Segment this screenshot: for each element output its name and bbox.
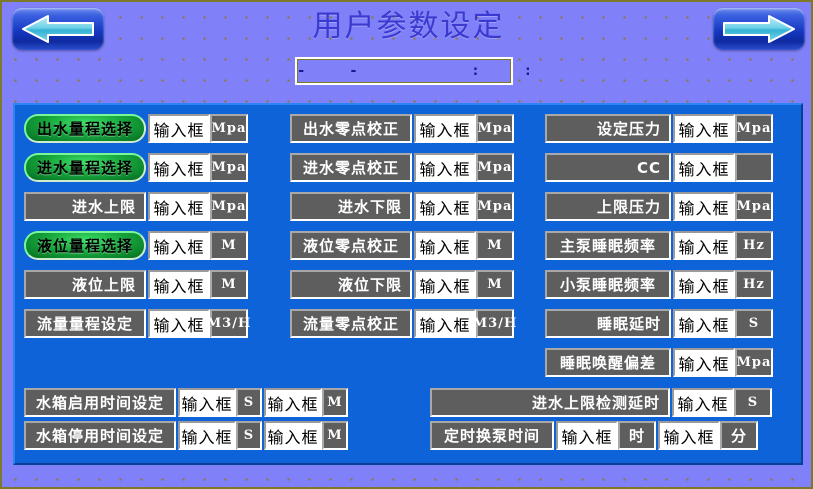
field-input-field[interactable]: 输入框	[148, 153, 210, 182]
parameter-row: 液位上限输入框M	[24, 270, 248, 299]
field-input-field[interactable]: 输入框	[673, 309, 735, 338]
datetime-display[interactable]: - - : :	[295, 57, 513, 85]
field-unit-field-min: M	[322, 421, 348, 450]
field-unit-field: Hz	[735, 270, 773, 299]
parameter-row-wide: 水箱停用时间设定输入框S输入框M	[24, 421, 348, 450]
field-label-field[interactable]: 主泵睡眠频率	[545, 231, 671, 260]
field-unit-field: M	[210, 231, 248, 260]
field-label-field[interactable]: 流量零点校正	[290, 309, 412, 338]
field-label-field[interactable]: 水箱停用时间设定	[24, 421, 176, 450]
field-label-cc[interactable]: CC	[545, 153, 671, 182]
field-label-field[interactable]: 出水量程选择	[24, 114, 146, 143]
field-unit-field: Hz	[735, 231, 773, 260]
field-input-field[interactable]: 输入框	[673, 348, 735, 377]
field-label-field[interactable]: 睡眠唤醒偏差	[545, 348, 671, 377]
field-input-field[interactable]: 输入框	[414, 114, 476, 143]
field-input-field-min[interactable]: 输入框	[264, 421, 322, 450]
parameter-row-wide: 定时换泵时间输入框时输入框分	[430, 421, 758, 450]
field-input-field-1[interactable]: 输入框	[672, 388, 734, 417]
field-input-field[interactable]: 输入框	[414, 270, 476, 299]
field-label-field[interactable]: 液位零点校正	[290, 231, 412, 260]
field-input-field[interactable]: 输入框	[148, 231, 210, 260]
parameter-row: 进水上限输入框Mpa	[24, 192, 248, 221]
field-label-field[interactable]: 进水下限	[290, 192, 412, 221]
parameter-row: 进水零点校正输入框Mpa	[290, 153, 514, 182]
field-label-field[interactable]: 流量量程设定	[24, 309, 146, 338]
field-unit-field-sec: S	[236, 421, 262, 450]
field-unit-field: Mpa	[476, 192, 514, 221]
parameter-row: 出水量程选择输入框Mpa	[24, 114, 248, 143]
field-label-field[interactable]: 进水零点校正	[290, 153, 412, 182]
parameter-row: 进水量程选择输入框Mpa	[24, 153, 248, 182]
parameter-row: 出水零点校正输入框Mpa	[290, 114, 514, 143]
parameter-row: 小泵睡眠频率输入框Hz	[545, 270, 773, 299]
field-input-field[interactable]: 输入框	[414, 153, 476, 182]
field-unit-field: Mpa	[476, 114, 514, 143]
field-input-field[interactable]: 输入框	[148, 192, 210, 221]
field-unit-field-sec: S	[236, 388, 262, 417]
parameter-row: 睡眠唤醒偏差输入框Mpa	[545, 348, 773, 377]
header-bar: 用户参数设定	[2, 2, 813, 54]
parameter-row-wide: 进水上限检测延时输入框S	[430, 388, 772, 417]
field-input-field-2[interactable]: 输入框	[658, 421, 720, 450]
field-unit-cc	[735, 153, 773, 182]
parameter-row: 液位下限输入框M	[290, 270, 514, 299]
field-label-field[interactable]: 进水上限	[24, 192, 146, 221]
field-label-field[interactable]: 睡眠延时	[545, 309, 671, 338]
field-input-field[interactable]: 输入框	[673, 192, 735, 221]
parameter-row: CC输入框	[545, 153, 773, 182]
field-input-field-1[interactable]: 输入框	[556, 421, 618, 450]
field-label-field[interactable]: 水箱启用时间设定	[24, 388, 176, 417]
field-unit-field-min: M	[322, 388, 348, 417]
field-input-field[interactable]: 输入框	[414, 231, 476, 260]
field-input-field[interactable]: 输入框	[148, 270, 210, 299]
field-label-field[interactable]: 液位下限	[290, 270, 412, 299]
field-unit-field: Mpa	[735, 114, 773, 143]
field-label-field[interactable]: 进水上限检测延时	[430, 388, 670, 417]
field-label-field[interactable]: 设定压力	[545, 114, 671, 143]
field-input-field[interactable]: 输入框	[414, 192, 476, 221]
field-unit-field-2: 分	[720, 421, 758, 450]
field-input-field[interactable]: 输入框	[673, 114, 735, 143]
field-unit-field: M	[210, 270, 248, 299]
parameter-row: 睡眠延时输入框S	[545, 309, 773, 338]
field-label-field[interactable]: 液位上限	[24, 270, 146, 299]
page-title: 用户参数设定	[2, 8, 813, 46]
field-input-field[interactable]: 输入框	[673, 231, 735, 260]
field-label-field[interactable]: 液位量程选择	[24, 231, 146, 260]
field-unit-field: Mpa	[735, 192, 773, 221]
hmi-screen: 用户参数设定 - - : : 出水量程选择输入框Mpa进水量程选择输入框Mpa进…	[0, 0, 813, 489]
field-input-field-min[interactable]: 输入框	[264, 388, 322, 417]
field-unit-field: M3/H	[210, 309, 248, 338]
field-input-field[interactable]: 输入框	[148, 309, 210, 338]
field-unit-field: Mpa	[476, 153, 514, 182]
field-unit-field: M3/H	[476, 309, 514, 338]
arrow-right-icon	[721, 14, 797, 44]
parameter-row: 设定压力输入框Mpa	[545, 114, 773, 143]
parameter-row: 主泵睡眠频率输入框Hz	[545, 231, 773, 260]
field-label-field[interactable]: 出水零点校正	[290, 114, 412, 143]
parameter-row: 流量量程设定输入框M3/H	[24, 309, 248, 338]
field-unit-field: Mpa	[210, 114, 248, 143]
field-unit-field: M	[476, 231, 514, 260]
field-input-field[interactable]: 输入框	[148, 114, 210, 143]
parameter-row-wide: 水箱启用时间设定输入框S输入框M	[24, 388, 348, 417]
parameter-row: 液位零点校正输入框M	[290, 231, 514, 260]
field-unit-field: S	[735, 309, 773, 338]
field-unit-field-1: S	[734, 388, 772, 417]
field-label-field[interactable]: 上限压力	[545, 192, 671, 221]
field-label-field[interactable]: 进水量程选择	[24, 153, 146, 182]
parameter-row: 进水下限输入框Mpa	[290, 192, 514, 221]
parameter-row: 上限压力输入框Mpa	[545, 192, 773, 221]
field-input-cc[interactable]: 输入框	[673, 153, 735, 182]
field-unit-field: Mpa	[210, 192, 248, 221]
next-page-button[interactable]	[713, 8, 805, 50]
field-input-field[interactable]: 输入框	[414, 309, 476, 338]
field-unit-field: Mpa	[735, 348, 773, 377]
field-input-field[interactable]: 输入框	[673, 270, 735, 299]
parameter-row: 液位量程选择输入框M	[24, 231, 248, 260]
field-label-field[interactable]: 小泵睡眠频率	[545, 270, 671, 299]
field-unit-field: M	[476, 270, 514, 299]
field-input-field-sec[interactable]: 输入框	[178, 388, 236, 417]
field-label-field[interactable]: 定时换泵时间	[430, 421, 554, 450]
field-input-field-sec[interactable]: 输入框	[178, 421, 236, 450]
field-unit-field: Mpa	[210, 153, 248, 182]
parameter-row: 流量零点校正输入框M3/H	[290, 309, 514, 338]
field-unit-field-1: 时	[618, 421, 656, 450]
